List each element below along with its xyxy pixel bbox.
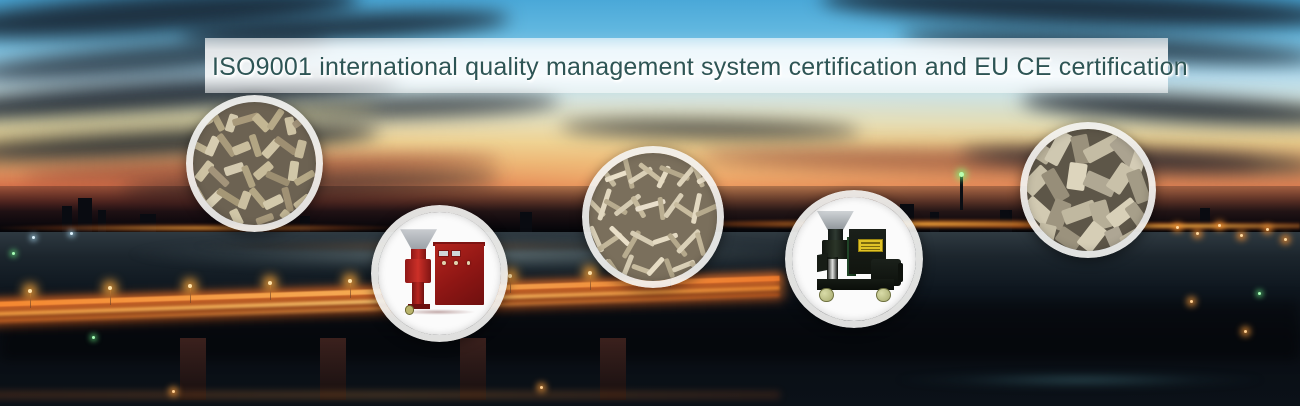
page-title: ISO9001 international quality management…	[212, 50, 1162, 84]
panel-meter-2	[451, 250, 462, 257]
panel-knob-3	[467, 261, 471, 265]
red-pellet-mill-thumbnail[interactable]	[371, 205, 508, 342]
mill-column	[412, 282, 423, 307]
circle-photo	[792, 197, 916, 321]
pellet-texture	[589, 153, 717, 281]
circle-photo	[1027, 129, 1149, 251]
wood-pellets-thumbnail[interactable]	[186, 95, 323, 232]
circle-photo	[193, 102, 316, 225]
panel-knob-2	[454, 261, 458, 265]
nameplate-label	[858, 239, 884, 252]
right-bank-lights	[1170, 222, 1300, 262]
hero-banner: ISO9001 international quality management…	[0, 0, 1300, 406]
panel-knob-1	[442, 261, 446, 265]
caster-wheel-right	[876, 288, 890, 302]
green-pellet-mill-thumbnail[interactable]	[785, 190, 923, 328]
mill-head	[405, 259, 431, 284]
pellet-texture	[1027, 129, 1149, 251]
panel-meter-1	[438, 250, 449, 257]
water-teal-strip	[880, 368, 1300, 392]
wood-pellets-right-thumbnail[interactable]	[1020, 122, 1156, 258]
antenna-tower	[960, 176, 963, 210]
pellet-texture	[193, 102, 316, 225]
caster-wheel-left	[819, 288, 833, 302]
circle-photo	[378, 212, 501, 335]
wood-pellets-center-thumbnail[interactable]	[582, 146, 724, 288]
circle-photo	[589, 153, 717, 281]
